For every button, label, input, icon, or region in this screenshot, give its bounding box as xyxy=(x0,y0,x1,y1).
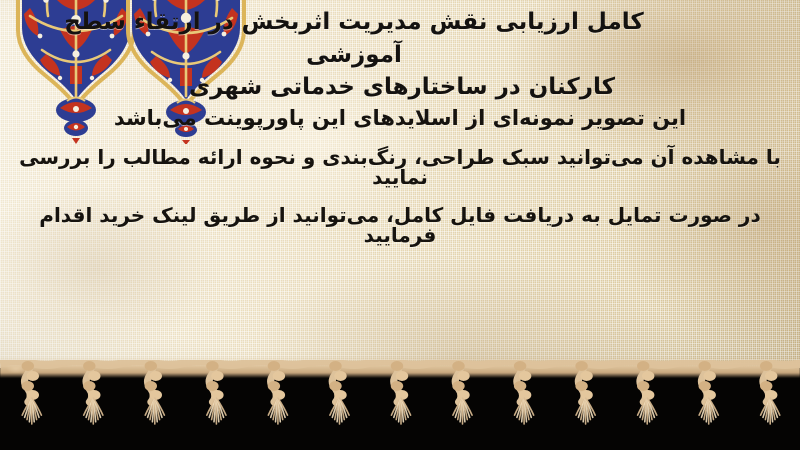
slide-title-line-2: کارکنان در ساختارهای خدماتی شهری xyxy=(22,71,782,104)
body-line-purchase-link: در صورت تمایل به دریافت فایل کامل، می‌تو… xyxy=(0,205,800,245)
slide-canvas: کامل ارزیابی نقش مدیریت اثربخش در ارتقاء… xyxy=(0,0,800,450)
carpet-fringe-tassels xyxy=(0,360,800,450)
slide-title: کامل ارزیابی نقش مدیریت اثربخش در ارتقاء… xyxy=(22,6,782,104)
body-line-review-design: با مشاهده آن می‌توانید سبک طراحی، رنگ‌بن… xyxy=(0,147,800,187)
slide-title-line-1: کامل ارزیابی نقش مدیریت اثربخش در ارتقاء… xyxy=(22,6,782,71)
slide-body-text: این تصویر نمونه‌ای از اسلایدهای این پاور… xyxy=(0,108,800,263)
body-line-sample-image: این تصویر نمونه‌ای از اسلایدهای این پاور… xyxy=(0,108,800,129)
